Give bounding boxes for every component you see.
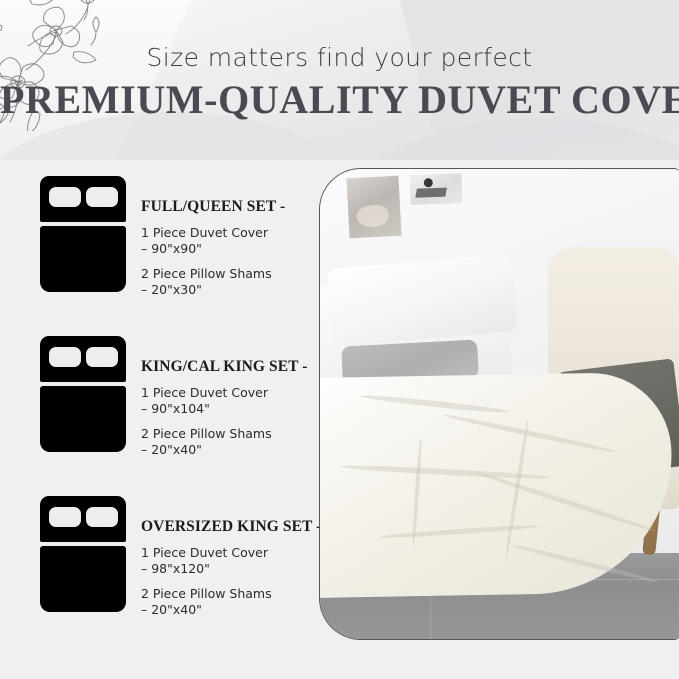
bed-mattress-shape <box>40 546 126 612</box>
spec-dimension: – 20"x40" <box>141 602 331 618</box>
size-block-king-cal-king: KING/CAL KING SET - 1 Piece Duvet Cover … <box>40 336 325 466</box>
pillow-shape-right <box>86 507 118 527</box>
spec-item: 2 Piece Pillow Shams <box>141 266 331 282</box>
header-banner: Size matters find your perfect PREMIUM-Q… <box>0 0 679 160</box>
pillow-shape-left <box>49 347 81 367</box>
spec-group: 1 Piece Duvet Cover – 90"x90" <box>141 225 331 257</box>
spec-group: 1 Piece Duvet Cover – 98"x120" <box>141 545 331 577</box>
bed-icon <box>40 496 126 612</box>
spec-group: 2 Piece Pillow Shams – 20"x40" <box>141 426 331 458</box>
pillow-shape-left <box>49 507 81 527</box>
spec-group: 1 Piece Duvet Cover – 90"x104" <box>141 385 331 417</box>
bed-icon <box>40 336 126 452</box>
spec-dimension: – 98"x120" <box>141 561 331 577</box>
spec-item: 1 Piece Duvet Cover <box>141 225 331 241</box>
spec-group: 2 Piece Pillow Shams – 20"x30" <box>141 266 331 298</box>
pillow-shape-right <box>86 187 118 207</box>
pillow-shape-right <box>86 347 118 367</box>
bed-icon <box>40 176 126 292</box>
set-name-label: OVERSIZED KING SET - <box>141 496 331 536</box>
white-pillow <box>327 253 518 347</box>
bed-headboard-shape <box>40 176 126 222</box>
set-name-label: KING/CAL KING SET - <box>141 336 331 376</box>
bed-headboard-shape <box>40 496 126 542</box>
header-subtitle: Size matters find your perfect <box>0 43 679 72</box>
product-lifestyle-photo: MAYWHERE <box>319 168 679 640</box>
size-block-text: OVERSIZED KING SET - 1 Piece Duvet Cover… <box>141 496 331 627</box>
size-block-full-queen: FULL/QUEEN SET - 1 Piece Duvet Cover – 9… <box>40 176 325 306</box>
bed-mattress-shape <box>40 226 126 292</box>
bed-headboard-shape <box>40 336 126 382</box>
spec-dimension: – 20"x30" <box>141 282 331 298</box>
spec-dimension: – 20"x40" <box>141 442 331 458</box>
set-name-label: FULL/QUEEN SET - <box>141 176 331 216</box>
wall-art-photo-1 <box>346 176 401 239</box>
page-title: PREMIUM-QUALITY DUVET COVER <box>0 76 679 123</box>
spec-dimension: – 90"x104" <box>141 401 331 417</box>
bed-mattress-shape <box>40 386 126 452</box>
spec-item: 1 Piece Duvet Cover <box>141 545 331 561</box>
spec-group: 2 Piece Pillow Shams – 20"x40" <box>141 586 331 618</box>
size-block-text: FULL/QUEEN SET - 1 Piece Duvet Cover – 9… <box>141 176 331 307</box>
wall-art-photo-2 <box>409 173 462 205</box>
spec-item: 2 Piece Pillow Shams <box>141 426 331 442</box>
spec-item: 2 Piece Pillow Shams <box>141 586 331 602</box>
size-block-text: KING/CAL KING SET - 1 Piece Duvet Cover … <box>141 336 331 467</box>
spec-item: 1 Piece Duvet Cover <box>141 385 331 401</box>
size-block-oversized-king: OVERSIZED KING SET - 1 Piece Duvet Cover… <box>40 496 325 626</box>
spec-dimension: – 90"x90" <box>141 241 331 257</box>
duvet-size-infographic: Size matters find your perfect PREMIUM-Q… <box>0 0 679 679</box>
pillow-shape-left <box>49 187 81 207</box>
